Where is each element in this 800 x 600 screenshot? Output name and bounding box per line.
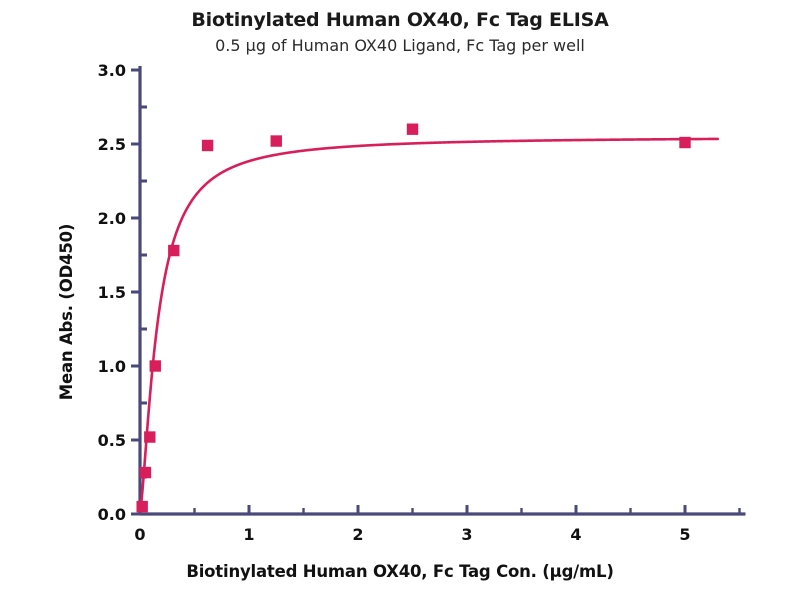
data-point-marker bbox=[680, 137, 690, 147]
data-point-marker bbox=[271, 136, 281, 146]
fit-curve bbox=[140, 139, 718, 511]
axes-layer bbox=[131, 66, 746, 514]
chart-screenshot: Biotinylated Human OX40, Fc Tag ELISA 0.… bbox=[0, 0, 800, 600]
x-tick-label: 4 bbox=[570, 525, 581, 544]
y-tick-label: 0.0 bbox=[98, 505, 126, 524]
data-point-marker bbox=[137, 501, 147, 511]
x-axis-title: Biotinylated Human OX40, Fc Tag Con. (µg… bbox=[0, 562, 800, 581]
y-axis-title: Mean Abs. (OD450) bbox=[47, 12, 87, 600]
y-tick-label: 3.0 bbox=[98, 61, 126, 80]
y-tick-label: 2.5 bbox=[98, 135, 126, 154]
x-tick-label: 1 bbox=[243, 525, 254, 544]
data-series-layer bbox=[137, 124, 718, 512]
y-tick-label: 0.5 bbox=[98, 431, 126, 450]
y-tick-label: 2.0 bbox=[98, 209, 126, 228]
plot-area: 0.00.51.01.52.02.53.0012345 bbox=[0, 0, 800, 600]
x-tick-label: 5 bbox=[679, 525, 690, 544]
y-tick-label: 1.0 bbox=[98, 357, 126, 376]
tick-labels-layer: 0.00.51.01.52.02.53.0012345 bbox=[98, 61, 691, 544]
y-tick-label: 1.5 bbox=[98, 283, 126, 302]
x-tick-label: 3 bbox=[461, 525, 472, 544]
data-point-marker bbox=[202, 140, 212, 150]
x-tick-label: 2 bbox=[352, 525, 363, 544]
data-point-marker bbox=[169, 245, 179, 255]
data-point-marker bbox=[140, 467, 150, 477]
data-point-marker bbox=[150, 361, 160, 371]
x-tick-label: 0 bbox=[134, 525, 145, 544]
y-axis-title-wrap: Mean Abs. (OD450) bbox=[47, 12, 87, 600]
data-point-marker bbox=[407, 124, 417, 134]
data-point-marker bbox=[145, 432, 155, 442]
